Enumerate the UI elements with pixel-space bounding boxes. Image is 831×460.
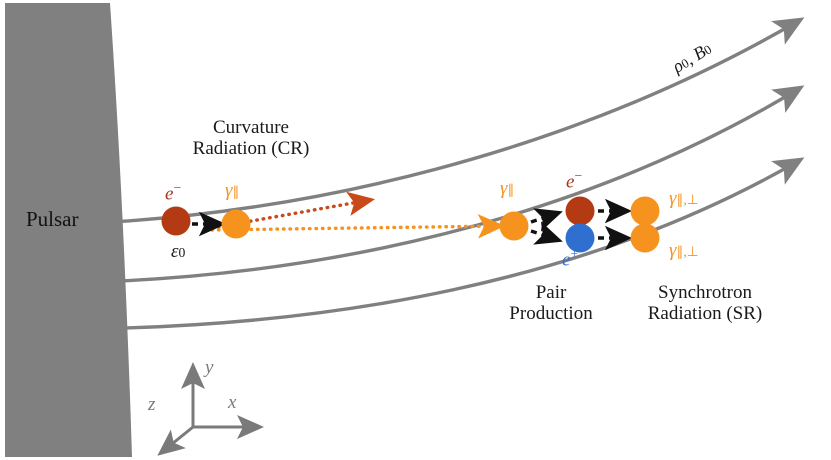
- sr-photon-upper-marker: [631, 197, 660, 226]
- sr-photon-upper-symbol: γ: [669, 188, 677, 209]
- axis-label-x: x: [228, 392, 236, 413]
- incident-photon-label: γ∥: [500, 178, 514, 199]
- energy-symbol: ε: [171, 241, 179, 262]
- cr-photon-subscript: ∥: [233, 184, 240, 199]
- pair-production-arrow-upper: [531, 213, 558, 222]
- sr-photon-lower-symbol: γ: [669, 240, 677, 261]
- curvature-radiation-line2: Radiation (CR): [193, 138, 310, 159]
- pulsar-label: Pulsar: [26, 208, 79, 232]
- axis-z: [162, 427, 193, 452]
- sr-photon-upper-subscript: ∥,⊥: [677, 192, 699, 207]
- pair-production-line2: Production: [509, 303, 592, 324]
- cr-photon-marker: [222, 210, 251, 239]
- pair-positron-charge: +: [570, 246, 578, 261]
- curvature-radiation-line1: Curvature: [193, 117, 310, 138]
- incident-photon-marker: [500, 212, 529, 241]
- pair-production-arrow-lower: [531, 231, 558, 240]
- synchrotron-radiation-line2: Radiation (SR): [648, 303, 763, 324]
- pair-electron-marker: [566, 197, 595, 226]
- cr-photon-label: γ∥: [225, 180, 239, 201]
- primary-electron-marker: [162, 207, 191, 236]
- pair-positron-label: e+: [562, 246, 578, 271]
- pair-production-line1: Pair: [509, 282, 592, 303]
- pair-electron-charge: −: [574, 168, 582, 183]
- incident-photon-subscript: ∥: [508, 182, 515, 197]
- curvature-radiation-caption: Curvature Radiation (CR): [193, 117, 310, 160]
- cr-photon-symbol: γ: [225, 180, 233, 201]
- sr-photon-lower-marker: [631, 224, 660, 253]
- incident-photon-symbol: γ: [500, 178, 508, 199]
- synchrotron-radiation-caption: Synchrotron Radiation (SR): [648, 282, 763, 325]
- axis-label-y: y: [205, 357, 213, 378]
- energy-subscript: 0: [179, 245, 186, 260]
- primary-electron-label: e−: [165, 180, 181, 205]
- sr-photon-lower-label: γ∥,⊥: [669, 240, 699, 261]
- pair-electron-label: e−: [566, 168, 582, 193]
- sr-photon-upper-label: γ∥,⊥: [669, 188, 699, 209]
- synchrotron-radiation-line1: Synchrotron: [648, 282, 763, 303]
- physics-diagram: Pulsar Curvature Radiation (CR) Pair Pro…: [0, 0, 831, 460]
- primary-electron-energy-label: ε0: [171, 241, 185, 262]
- pair-production-caption: Pair Production: [509, 282, 592, 325]
- diagram-canvas: [0, 0, 831, 460]
- axis-label-z: z: [148, 394, 155, 415]
- primary-electron-charge: −: [173, 180, 181, 195]
- sr-photon-lower-subscript: ∥,⊥: [677, 244, 699, 259]
